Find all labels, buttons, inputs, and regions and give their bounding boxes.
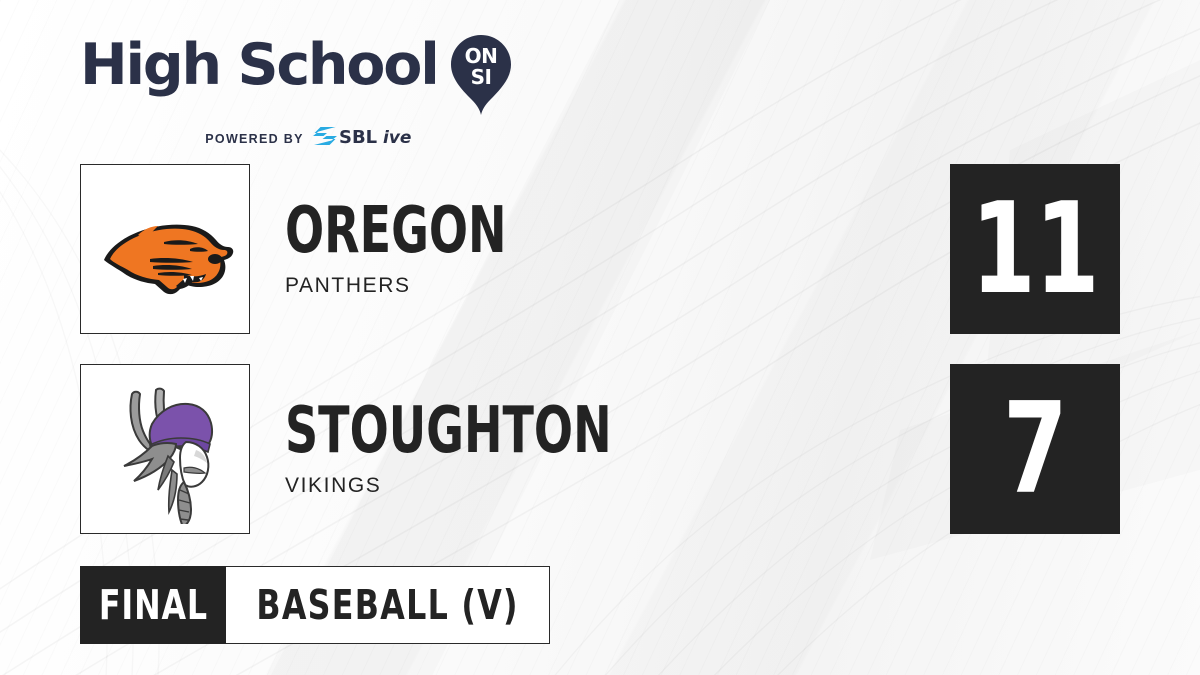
panther-head-icon (90, 174, 240, 324)
team-name-home: OREGON (285, 201, 507, 261)
sport-label-box: BASEBALL (V) (226, 566, 550, 644)
game-status-badge: FINAL (80, 566, 226, 644)
game-status-label: FINAL (98, 581, 207, 629)
powered-by-label: POWERED BY (205, 132, 303, 146)
scoreboard-graphic: High School ON SI POWERED BY SBL ive (0, 0, 1200, 675)
brand-wordmark: High School (80, 36, 438, 94)
team-info-home: OREGON PANTHERS (285, 164, 562, 334)
sport-label: BASEBALL (V) (256, 581, 518, 629)
team-logo-box-home (80, 164, 250, 334)
score-value-away: 7 (1003, 386, 1067, 512)
viking-head-icon (90, 374, 240, 524)
score-box-home: 11 (950, 164, 1120, 334)
score-value-home: 11 (971, 186, 1099, 312)
status-bar: FINAL BASEBALL (V) (80, 566, 550, 644)
team-row-home: OREGON PANTHERS 11 (0, 164, 1200, 334)
sblive-text-sbl: SBL (339, 127, 377, 147)
team-mascot-away: VIKINGS (285, 474, 693, 498)
brand-logo-row: High School ON SI (80, 36, 510, 121)
on-si-pin-icon: ON SI (450, 34, 512, 121)
sblive-text-ive: ive (383, 128, 411, 147)
team-name-away: STOUGHTON (285, 401, 612, 461)
pin-text-si: SI (470, 65, 491, 89)
brand-header: High School ON SI POWERED BY SBL ive (80, 36, 510, 136)
team-mascot-home: PANTHERS (285, 274, 562, 298)
sblive-logo-icon: SBL ive (313, 125, 431, 152)
team-row-away: STOUGHTON VIKINGS 7 (0, 364, 1200, 534)
team-info-away: STOUGHTON VIKINGS (285, 364, 693, 534)
team-logo-box-away (80, 364, 250, 534)
powered-by-row: POWERED BY SBL ive (126, 125, 510, 152)
score-box-away: 7 (950, 364, 1120, 534)
